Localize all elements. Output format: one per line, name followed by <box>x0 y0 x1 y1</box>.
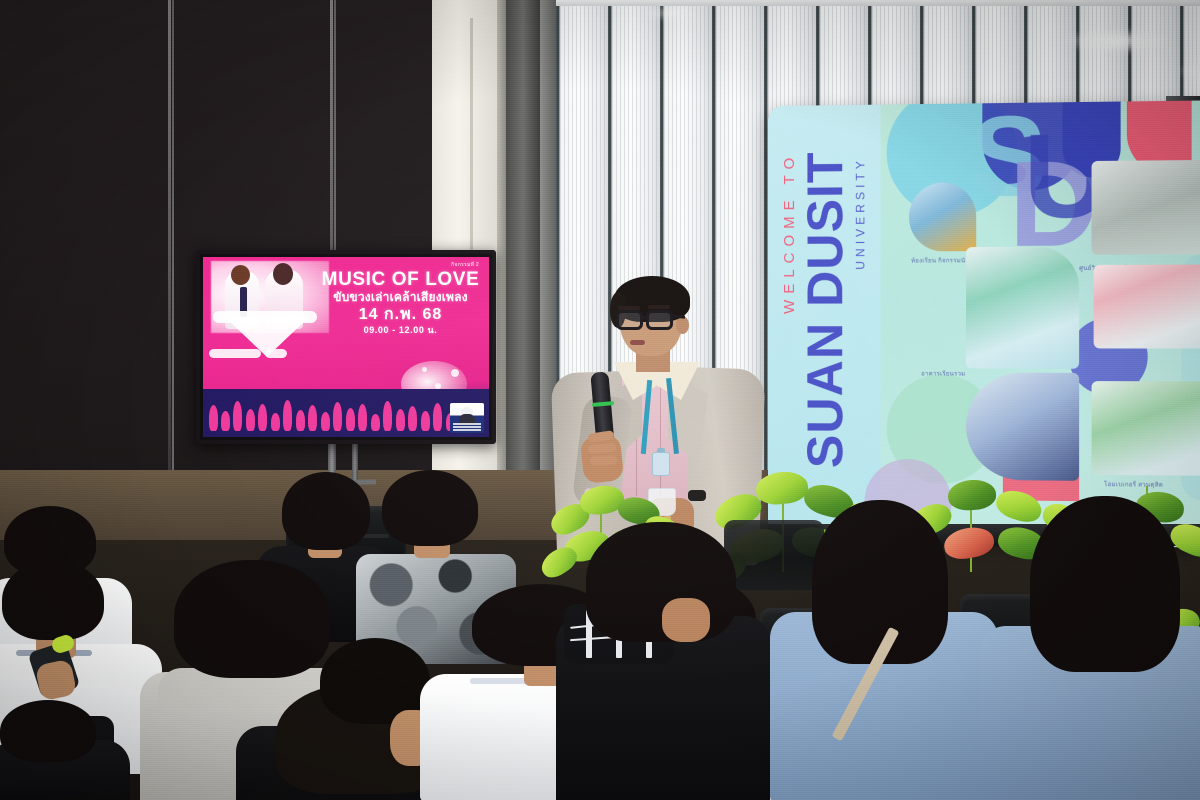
banner-photo-caption: อาคารเรียนรวม <box>921 368 965 378</box>
column-strip <box>506 0 540 500</box>
audience-member <box>980 498 1200 800</box>
slide-date: 14 ก.พ. 68 <box>318 307 483 323</box>
eyeglasses-icon <box>616 310 643 330</box>
banner-photo-classroom <box>909 182 976 251</box>
neck <box>662 598 710 642</box>
slide-text-block: กิจกรรมที่ 2 MUSIC OF LOVE ขับขวงเล่าเคล… <box>318 263 483 335</box>
banner-photo-building <box>966 247 1079 369</box>
eyeglasses-bridge <box>642 316 649 319</box>
wall-seam <box>168 0 171 470</box>
pillar-edge <box>497 0 506 520</box>
audience-member <box>556 512 766 800</box>
audience-member <box>0 700 120 800</box>
banner-university-text: UNIVERSITY <box>854 157 866 270</box>
slide-eyebrow: กิจกรรมที่ 2 <box>318 263 483 268</box>
speaker-mouth <box>630 340 645 345</box>
ceiling-beam <box>556 0 1200 6</box>
slide-subtitle: ขับขวงเล่าเคล้าเสียงเพลง <box>318 291 483 303</box>
banner-photo-students <box>966 373 1079 481</box>
slide-org-logo <box>450 403 484 433</box>
banner-welcome-text: WELCOME TO <box>782 152 797 314</box>
slide-title: MUSIC OF LOVE <box>318 270 483 289</box>
slide-time: 09.00 - 12.00 น. <box>318 326 483 335</box>
photo-scene: กิจกรรมที่ 2 MUSIC OF LOVE ขับขวงเล่าเคล… <box>0 0 1200 800</box>
banner-photo-campus <box>1092 381 1200 476</box>
audience-member <box>770 500 1000 800</box>
banner-photo-store <box>1094 264 1200 348</box>
wall-panel <box>0 0 170 480</box>
banner-photo-cafe <box>1092 160 1200 255</box>
presentation-tv[interactable]: กิจกรรมที่ 2 MUSIC OF LOVE ขับขวงเล่าเคล… <box>196 250 496 444</box>
banner-brand-text: SUAN DUSIT <box>800 151 850 468</box>
eyeglasses-icon <box>646 310 673 330</box>
